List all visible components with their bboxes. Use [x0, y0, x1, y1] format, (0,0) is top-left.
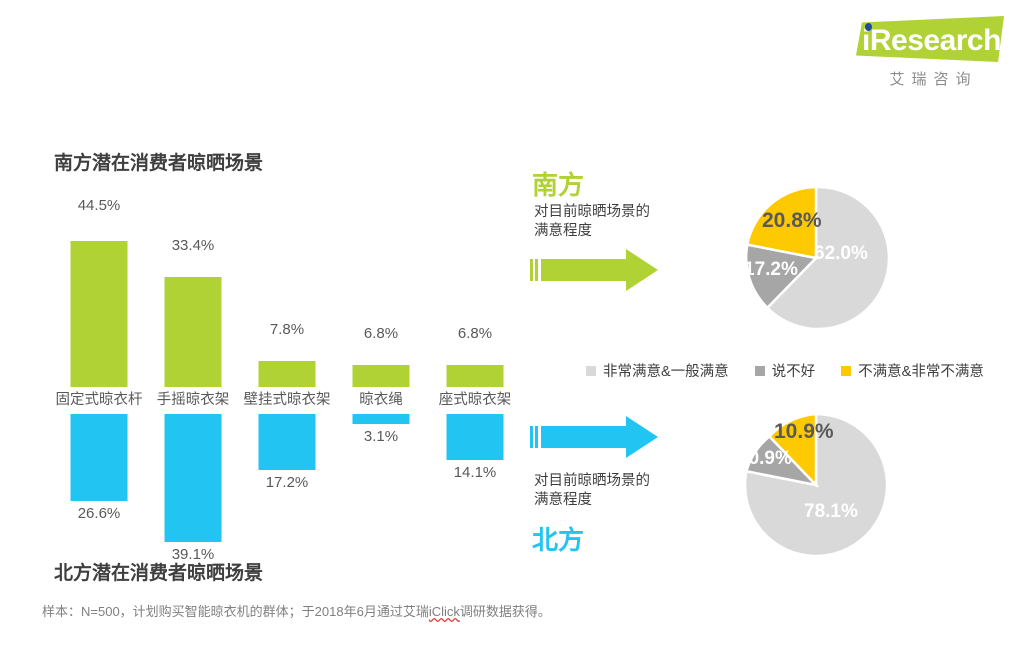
pie-legend: 非常满意&一般满意 说不好 不满意&非常不满意: [586, 360, 984, 381]
logo-wordmark: iResearch: [862, 23, 1002, 59]
south-bar-value-2: 7.8%: [240, 321, 334, 338]
legend-swatch-unsatisfied: [841, 366, 851, 376]
bar-charts-block: 南方潜在消费者晾晒场景 北方潜在消费者晾晒场景 44.5% 固定式晾衣杆 26.…: [52, 148, 522, 588]
north-bar-wrap-2: 17.2%: [240, 414, 334, 558]
category-label-4: 座式晾衣架: [422, 388, 528, 409]
source-note: 样本：N=500，计划购买智能晾衣机的群体；于2018年6月通过艾瑞iClick…: [42, 601, 551, 620]
bar-group-4: 6.8% 座式晾衣架 14.1%: [428, 182, 522, 558]
logo-mark: iResearch: [856, 16, 1004, 62]
north-pie-label-unsatisfied: 10.9%: [774, 420, 834, 444]
south-chart-title: 南方潜在消费者晾晒场景: [54, 148, 263, 175]
north-pie-label-satisfied: 78.1%: [804, 501, 858, 523]
logo-subtitle: 艾瑞咨询: [856, 68, 1004, 89]
north-bar-wrap-1: 39.1%: [146, 414, 240, 558]
bar-group-2: 7.8% 壁挂式晾衣架 17.2%: [240, 182, 334, 558]
north-pie-chart: 78.1% 10.9% 10.9%: [726, 406, 906, 561]
legend-item-neutral[interactable]: 说不好: [755, 360, 816, 381]
north-bar-value-0: 26.6%: [52, 505, 146, 522]
bar-group-0: 44.5% 固定式晾衣杆 26.6%: [52, 182, 146, 558]
source-note-after: 调研数据获得。: [460, 604, 551, 619]
north-bar-value-2: 17.2%: [240, 474, 334, 491]
north-pie-label-neutral: 10.9%: [738, 448, 792, 470]
legend-label-satisfied: 非常满意&一般满意: [603, 360, 729, 381]
north-bar-3[interactable]: [353, 414, 410, 424]
iresearch-logo: iResearch 艾瑞咨询: [856, 16, 1004, 88]
legend-item-satisfied[interactable]: 非常满意&一般满意: [586, 360, 729, 381]
north-bar-2[interactable]: [259, 414, 316, 470]
north-region-name: 北方: [532, 520, 584, 557]
south-pie-label-neutral: 17.2%: [744, 259, 798, 281]
legend-item-unsatisfied[interactable]: 不满意&非常不满意: [841, 360, 984, 381]
south-bar-value-3: 6.8%: [334, 325, 428, 342]
north-arrow-icon: [530, 416, 658, 458]
north-bar-wrap-3: 3.1%: [334, 414, 428, 558]
source-note-before: 样本：N=500，计划购买智能晾衣机的群体；于2018年6月通过艾瑞: [42, 604, 429, 619]
bar-group-1: 33.4% 手摇晾衣架 39.1%: [146, 182, 240, 558]
south-bar-wrap-2: 7.8%: [240, 182, 334, 387]
north-bar-4[interactable]: [447, 414, 504, 460]
legend-label-unsatisfied: 不满意&非常不满意: [858, 360, 984, 381]
bar-group-3: 6.8% 晾衣绳 3.1%: [334, 182, 428, 558]
south-bar-0[interactable]: [71, 241, 128, 387]
south-bar-value-0: 44.5%: [52, 197, 146, 214]
south-bar-4[interactable]: [447, 365, 504, 387]
legend-label-neutral: 说不好: [772, 360, 816, 381]
legend-swatch-satisfied: [586, 366, 596, 376]
south-bar-2[interactable]: [259, 361, 316, 387]
south-bar-wrap-3: 6.8%: [334, 182, 428, 387]
south-bar-3[interactable]: [353, 365, 410, 387]
south-arrow-icon: [530, 249, 658, 291]
south-bar-1[interactable]: [165, 277, 222, 387]
north-bar-wrap-4: 14.1%: [428, 414, 522, 558]
south-bar-value-1: 33.4%: [146, 237, 240, 254]
north-bar-value-3: 3.1%: [334, 428, 428, 445]
north-bar-value-4: 14.1%: [428, 464, 522, 481]
category-label-1: 手摇晾衣架: [140, 388, 246, 409]
south-bar-wrap-4: 6.8%: [428, 182, 522, 387]
category-label-2: 壁挂式晾衣架: [234, 388, 340, 409]
logo-i-dot: [865, 23, 872, 31]
south-bar-value-4: 6.8%: [428, 325, 522, 342]
south-region-description: 对目前晾晒场景的满意程度: [534, 203, 664, 241]
north-bar-0[interactable]: [71, 414, 128, 501]
south-bar-wrap-0: 44.5%: [52, 182, 146, 387]
north-bar-1[interactable]: [165, 414, 222, 542]
north-bar-wrap-0: 26.6%: [52, 414, 146, 558]
south-pie-label-satisfied: 62.0%: [814, 243, 868, 265]
logo-research-text: Research: [870, 24, 1001, 57]
category-label-0: 固定式晾衣杆: [46, 388, 152, 409]
south-pie-chart: 62.0% 17.2% 20.8%: [726, 181, 906, 336]
south-region-name: 南方: [532, 165, 584, 202]
north-region-description: 对目前晾晒场景的满意程度: [534, 472, 664, 510]
south-pie-label-unsatisfied: 20.8%: [762, 209, 822, 233]
north-bar-value-1: 39.1%: [146, 546, 240, 563]
source-note-iclick: iClick: [429, 604, 460, 619]
category-label-3: 晾衣绳: [328, 388, 434, 409]
legend-swatch-neutral: [755, 366, 765, 376]
south-bar-wrap-1: 33.4%: [146, 182, 240, 387]
